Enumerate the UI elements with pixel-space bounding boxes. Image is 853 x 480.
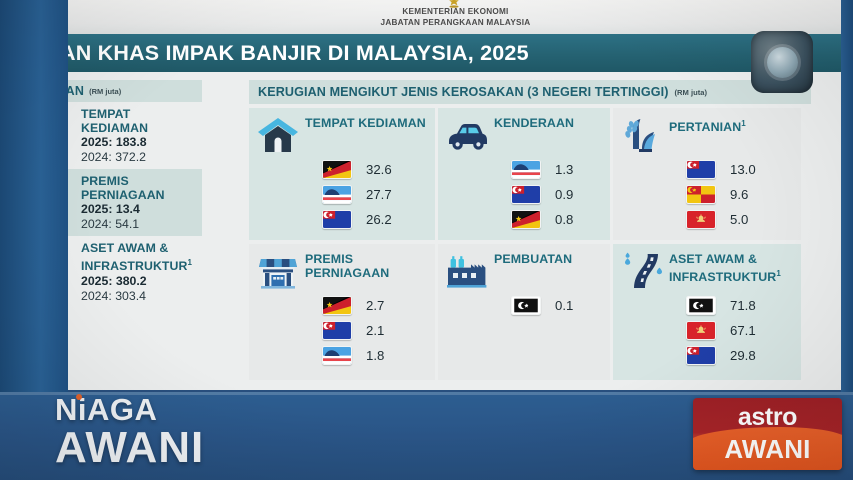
- damage-cards-grid: TEMPAT KEDIAMAN 32.6 27.7: [249, 104, 811, 380]
- damage-card-title: ASET AWAM & INFRASTRUKTUR1: [669, 251, 795, 284]
- state-value-row: 5.0: [686, 207, 795, 232]
- lens-circle-icon: [767, 47, 798, 78]
- slide-title: AN KHAS IMPAK BANJIR DI MALAYSIA, 2025: [68, 41, 529, 66]
- state-value-list: 13.0 9.6 5.0: [620, 157, 795, 232]
- state-value: 29.8: [730, 348, 756, 363]
- state-value-row: 29.8: [686, 343, 795, 368]
- damage-card: TEMPAT KEDIAMAN 32.6 27.7: [249, 108, 435, 240]
- damage-card: ASET AWAM & INFRASTRUKTUR1 71.8 67.1: [613, 244, 801, 380]
- state-value: 2.1: [366, 323, 384, 338]
- footnote-marker: 1: [776, 269, 781, 278]
- damage-panel-header: KERUGIAN MENGIKUT JENIS KEROSAKAN (3 NEG…: [249, 80, 811, 104]
- damage-by-type-panel: KERUGIAN MENGIKUT JENIS KEROSAKAN (3 NEG…: [249, 80, 811, 388]
- flag-johor-icon: [322, 210, 352, 229]
- flag-selangor-icon: [686, 185, 716, 204]
- flag-kelantan-icon: [686, 210, 716, 229]
- flag-sabah-icon: [322, 185, 352, 204]
- left-block-value-2024: 2024: 303.4: [81, 289, 196, 304]
- state-value: 32.6: [366, 162, 392, 177]
- programme-name-line1: NiAGA: [55, 396, 157, 425]
- flag-terengganu-icon: [686, 296, 716, 315]
- left-block-list: TEMPAT KEDIAMAN2025: 183.82024: 372.2PRE…: [68, 102, 202, 308]
- flag-sabah-icon: [511, 160, 541, 179]
- state-value-row: 26.2: [322, 207, 429, 232]
- flag-johor-icon: [322, 321, 352, 340]
- left-block-value-2024: 2024: 372.2: [81, 150, 196, 165]
- damage-card-title: PERTANIAN1: [669, 115, 746, 135]
- damage-card: PERTANIAN1 13.0 9.6: [613, 108, 801, 240]
- left-column-header-unit: (RM juta): [89, 87, 121, 96]
- flag-johor-icon: [511, 185, 541, 204]
- state-value: 0.9: [555, 187, 573, 202]
- footnote-marker: 1: [188, 258, 193, 267]
- astro-awani-logo: astro AWANI: [693, 398, 842, 470]
- broadcast-screen: KEMENTERIAN EKONOMI JABATAN PERANGKAAN M…: [0, 0, 853, 480]
- state-value: 5.0: [730, 212, 748, 227]
- orange-dot-icon: [76, 394, 82, 400]
- state-value-row: 2.7: [322, 293, 429, 318]
- left-frame-bar: [0, 0, 68, 392]
- damage-panel-header-unit: (RM juta): [675, 88, 707, 97]
- left-block-value-2025: 2025: 13.4: [81, 202, 196, 217]
- damage-card-title: PEMBUATAN: [494, 251, 572, 267]
- damage-panel-header-label: KERUGIAN MENGIKUT JENIS KEROSAKAN (3 NEG…: [258, 85, 669, 99]
- damage-card: KENDERAAN 1.3 0.9: [438, 108, 610, 240]
- flag-johor-icon: [686, 160, 716, 179]
- state-value-list: 71.8 67.1 29.8: [620, 293, 795, 368]
- shop-icon: [256, 251, 300, 291]
- state-value-row: 13.0: [686, 157, 795, 182]
- state-value-list: 0.1: [445, 293, 604, 318]
- state-value-row: 0.8: [511, 207, 604, 232]
- state-value-row: 71.8: [686, 293, 795, 318]
- road-icon: [620, 251, 664, 291]
- left-summary-column: IAN (RM juta) TEMPAT KEDIAMAN2025: 183.8…: [68, 80, 202, 388]
- state-value: 67.1: [730, 323, 756, 338]
- state-value-row: 1.3: [511, 157, 604, 182]
- damage-card: PEMBUATAN 0.1: [438, 244, 610, 380]
- state-value-list: 32.6 27.7 26.2: [256, 157, 429, 232]
- left-column-header: IAN (RM juta): [68, 80, 202, 102]
- damage-card-title: PREMIS PERNIAGAAN: [305, 251, 429, 280]
- factory-icon: [445, 251, 489, 291]
- left-block-title: ASET AWAM & INFRASTRUKTUR1: [81, 242, 196, 273]
- state-value: 13.0: [730, 162, 756, 177]
- presentation-slide: KEMENTERIAN EKONOMI JABATAN PERANGKAAN M…: [68, 0, 841, 390]
- flag-kelantan-icon: [686, 321, 716, 340]
- left-block-value-2025: 2025: 380.2: [81, 274, 196, 289]
- flag-sarawak-icon: [322, 296, 352, 315]
- state-value-row: 27.7: [322, 182, 429, 207]
- state-value: 27.7: [366, 187, 392, 202]
- damage-card: PREMIS PERNIAGAAN 2.7 2.1: [249, 244, 435, 380]
- slide-title-band: AN KHAS IMPAK BANJIR DI MALAYSIA, 2025: [68, 34, 841, 72]
- state-value-row: 0.1: [511, 293, 604, 318]
- house-icon: [256, 115, 300, 155]
- state-value-row: 67.1: [686, 318, 795, 343]
- left-block-value-2025: 2025: 183.8: [81, 135, 196, 150]
- ministry-header: KEMENTERIAN EKONOMI JABATAN PERANGKAAN M…: [68, 0, 841, 34]
- flag-sabah-icon: [322, 346, 352, 365]
- state-value: 9.6: [730, 187, 748, 202]
- damage-card-title: KENDERAAN: [494, 115, 574, 131]
- programme-branding: NiAGA AWANI: [55, 396, 204, 468]
- car-icon: [445, 115, 489, 155]
- camera-lens-badge: [751, 31, 813, 93]
- flag-sarawak-icon: [511, 210, 541, 229]
- damage-card-title: TEMPAT KEDIAMAN: [305, 115, 426, 131]
- flag-johor-icon: [686, 346, 716, 365]
- astro-logo-bottom-text: AWANI: [693, 434, 842, 465]
- left-block-title: PREMIS PERNIAGAAN: [81, 175, 196, 202]
- flag-sarawak-icon: [322, 160, 352, 179]
- state-value: 2.7: [366, 298, 384, 313]
- malaysia-crest-icon: [447, 0, 461, 8]
- state-value-row: 2.1: [322, 318, 429, 343]
- state-value: 26.2: [366, 212, 392, 227]
- left-block: TEMPAT KEDIAMAN2025: 183.82024: 372.2: [68, 102, 202, 169]
- left-block: ASET AWAM & INFRASTRUKTUR12025: 380.2202…: [68, 236, 202, 307]
- left-block-value-2024: 2024: 54.1: [81, 217, 196, 232]
- state-value-row: 0.9: [511, 182, 604, 207]
- flag-terengganu-icon: [511, 296, 541, 315]
- state-value-row: 32.6: [322, 157, 429, 182]
- state-value-list: 2.7 2.1 1.8: [256, 293, 429, 368]
- left-column-header-label: IAN: [68, 84, 84, 98]
- state-value: 0.1: [555, 298, 573, 313]
- agriculture-icon: [620, 115, 664, 155]
- right-frame-bar: [841, 0, 853, 392]
- footnote-marker: 1: [741, 119, 746, 128]
- left-block-title: TEMPAT KEDIAMAN: [81, 108, 196, 135]
- state-value-row: 9.6: [686, 182, 795, 207]
- state-value-list: 1.3 0.9 0.8: [445, 157, 604, 232]
- state-value: 0.8: [555, 212, 573, 227]
- left-block: PREMIS PERNIAGAAN2025: 13.42024: 54.1: [68, 169, 202, 236]
- state-value: 71.8: [730, 298, 756, 313]
- ministry-line-2: JABATAN PERANGKAAN MALAYSIA: [381, 17, 531, 29]
- programme-name-line2: AWANI: [55, 428, 204, 468]
- state-value-row: 1.8: [322, 343, 429, 368]
- state-value: 1.3: [555, 162, 573, 177]
- state-value: 1.8: [366, 348, 384, 363]
